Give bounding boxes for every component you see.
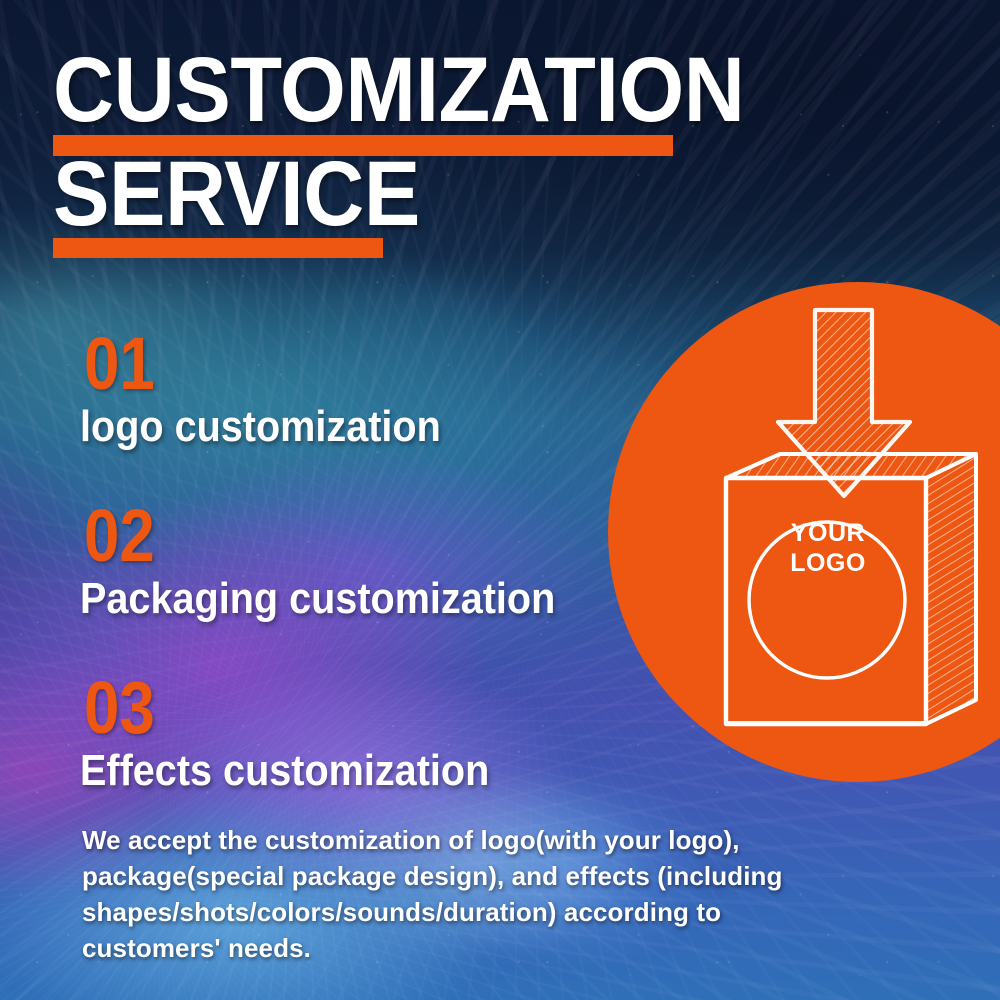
feature-label-02: Packaging customization (80, 576, 555, 622)
description-line-4: customers' needs. (82, 930, 842, 966)
title-line-customization: CUSTOMIZATION (53, 42, 697, 138)
package-illustration (608, 282, 1000, 782)
feature-item-01: 01 logo customization logo customization (84, 328, 481, 450)
description-line-1: We accept the customization of logo(with… (82, 822, 842, 858)
feature-number-01: 01 (84, 328, 425, 400)
description-line-3: shapes/shots/colors/sounds/duration) acc… (82, 894, 842, 930)
feature-number-03: 03 (84, 672, 472, 744)
poster-content: CUSTOMIZATION SERVICE 01 logo customizat… (0, 0, 1000, 1000)
description-paragraph: We accept the customization of logo(with… (82, 822, 842, 966)
feature-item-03: 03 Effects customization Effects customi… (84, 672, 535, 794)
customization-service-poster: CUSTOMIZATION SERVICE 01 logo customizat… (0, 0, 1000, 1000)
logo-placeholder-circle-icon (749, 522, 905, 678)
title-line-service: SERVICE (53, 146, 697, 242)
description-line-2: package(special package design), and eff… (82, 858, 842, 894)
orange-circle-graphic: YOUR LOGO (608, 282, 1000, 782)
package-box-icon (726, 454, 976, 724)
feature-label-01: logo customization (80, 404, 441, 450)
feature-label-03: Effects customization (80, 748, 489, 794)
feature-number-02: 02 (84, 500, 535, 572)
feature-item-02: 02 Packaging customization Packaging cus… (84, 500, 608, 622)
page-title: CUSTOMIZATION SERVICE (53, 42, 753, 242)
